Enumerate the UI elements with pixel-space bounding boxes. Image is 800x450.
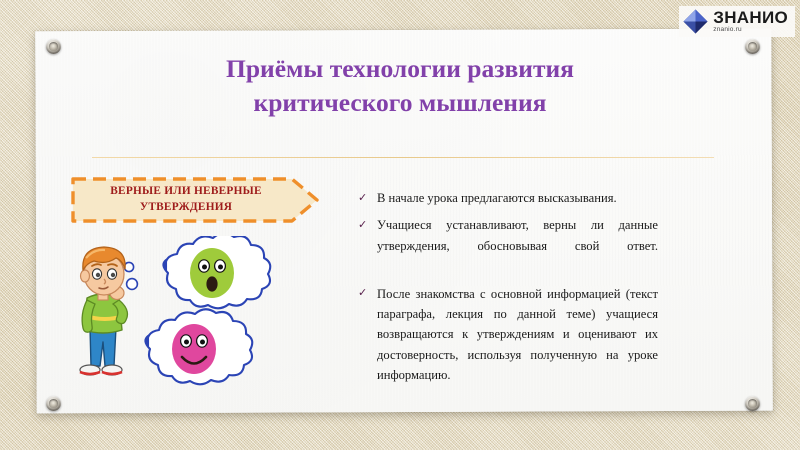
page-title: Приёмы технологии развития критического … <box>110 52 690 120</box>
list-item-text: Учащиеся устанавливают, верны ли данные … <box>377 215 658 276</box>
list-item: ✓ В начале урока предлагаются высказыван… <box>358 188 658 208</box>
title-divider <box>92 157 714 158</box>
boy-figure <box>80 247 127 375</box>
screw-bottom-left-icon <box>46 396 61 411</box>
illustration-svg <box>70 236 330 396</box>
thinking-boy-illustration <box>70 236 330 396</box>
screw-bottom-right-icon <box>745 396 760 411</box>
title-line-2: критического мышления <box>110 86 690 120</box>
znanio-diamond-icon <box>683 9 708 34</box>
banner-line-2: УТВЕРЖДЕНИЯ <box>140 200 232 216</box>
logo-wordmark: ЗНАНИО <box>713 9 788 26</box>
thought-bubble-happy <box>145 309 252 384</box>
list-item-text: После знакомства с основной информацией … <box>377 284 658 406</box>
check-icon: ✓ <box>358 189 367 207</box>
thought-bubble-surprised <box>163 236 270 308</box>
list-item-text: В начале урока предлагаются высказывания… <box>377 188 658 208</box>
slide-canvas: ЗНАНИО znanio.ru Приёмы технологии разви… <box>0 0 800 450</box>
logo-text-group: ЗНАНИО znanio.ru <box>713 9 788 34</box>
bullet-list: ✓ В начале урока предлагаются высказыван… <box>358 188 658 406</box>
title-line-1: Приёмы технологии развития <box>110 52 690 86</box>
screw-top-left-icon <box>46 39 61 54</box>
check-icon: ✓ <box>358 216 367 234</box>
happy-face <box>172 324 216 374</box>
znanio-logo[interactable]: ЗНАНИО znanio.ru <box>679 6 795 37</box>
check-icon: ✓ <box>358 284 367 302</box>
banner-text-group: ВЕРНЫЕ ИЛИ НЕВЕРНЫЕ УТВЕРЖДЕНИЯ <box>80 176 292 224</box>
banner-line-1: ВЕРНЫЕ ИЛИ НЕВЕРНЫЕ <box>110 184 261 200</box>
list-item: ✓ Учащиеся устанавливают, верны ли данны… <box>358 215 658 276</box>
list-item: ✓ После знакомства с основной информацие… <box>358 284 658 406</box>
screw-top-right-icon <box>745 39 760 54</box>
logo-url: znanio.ru <box>713 27 788 34</box>
technique-banner: ВЕРНЫЕ ИЛИ НЕВЕРНЫЕ УТВЕРЖДЕНИЯ <box>70 176 320 224</box>
